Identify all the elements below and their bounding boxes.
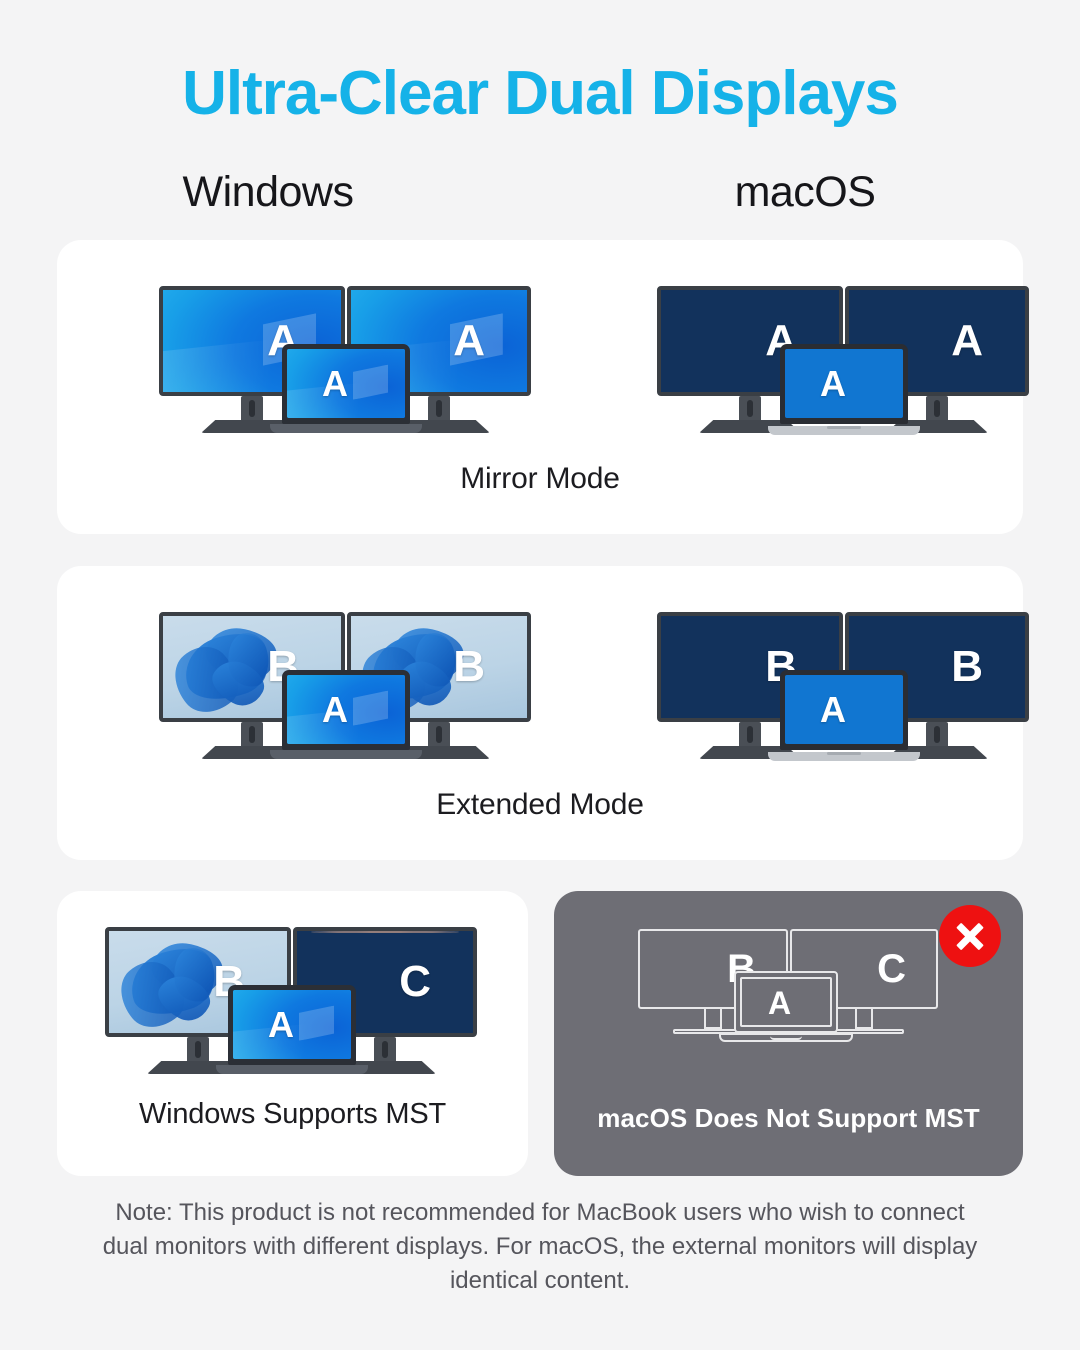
screen-letter: C xyxy=(399,960,431,1004)
x-mark-icon xyxy=(939,905,1001,967)
monitor-neck xyxy=(926,396,948,422)
windows-mst-scene: B C A xyxy=(57,891,528,1176)
laptop-deck xyxy=(216,1065,368,1074)
monitor-neck xyxy=(241,722,263,748)
card-windows-supports-mst: B C A Windows Supports MST xyxy=(57,891,528,1176)
windows-mst-group: B C A xyxy=(105,927,477,1097)
laptop-outline: A xyxy=(734,971,838,1042)
laptop-deck xyxy=(768,426,920,435)
monitor-neck xyxy=(241,396,263,422)
infographic-page: Ultra-Clear Dual Displays Windows macOS … xyxy=(0,0,1080,1350)
screen-letter: A xyxy=(951,319,983,363)
laptop-deck xyxy=(270,424,422,433)
monitor-neck xyxy=(187,1037,209,1063)
screen-letter: B xyxy=(951,645,983,689)
screen-letter: A xyxy=(268,1007,294,1043)
mode-label-macos-no-mst: macOS Does Not Support MST xyxy=(554,1103,1023,1134)
screen-letter: C xyxy=(877,949,906,989)
card-mirror-mode: A A A A xyxy=(57,240,1023,534)
screen-letter: B xyxy=(453,645,485,689)
screen-letter: A xyxy=(820,366,846,402)
mode-label-mirror: Mirror Mode xyxy=(57,462,1023,496)
card-macos-no-mst: B C A macOS Does Not Support MST xyxy=(554,891,1023,1176)
screen-letter: A xyxy=(820,692,846,728)
laptop-deck xyxy=(270,750,422,759)
monitor-neck-outline xyxy=(855,1009,873,1029)
monitor-neck xyxy=(428,396,450,422)
monitor-neck xyxy=(739,722,761,748)
laptop-deck xyxy=(768,752,920,761)
mode-label-extended: Extended Mode xyxy=(57,788,1023,822)
card-extended-mode: B xyxy=(57,566,1023,860)
os-header-macos: macOS xyxy=(540,168,1080,217)
macos-mst-outline-scene: B C A xyxy=(638,929,938,1057)
windows-extended-group: B xyxy=(159,612,531,782)
footer-note: Note: This product is not recommended fo… xyxy=(90,1196,990,1298)
monitor-neck xyxy=(428,722,450,748)
screen-letter: A xyxy=(322,692,348,728)
laptop-windows: A xyxy=(282,670,410,759)
laptop-windows: A xyxy=(282,344,410,433)
screen-letter: A xyxy=(322,366,348,402)
laptop-deck-outline xyxy=(719,1033,853,1042)
macos-mirror-group: A A A xyxy=(657,286,1029,456)
monitor-neck-outline xyxy=(704,1009,722,1029)
laptop-macbook: A xyxy=(780,670,908,761)
monitor-neck xyxy=(926,722,948,748)
mode-label-windows-mst: Windows Supports MST xyxy=(57,1098,528,1131)
os-header-row: Windows macOS xyxy=(0,168,1080,217)
screen-letter: A xyxy=(768,987,791,1019)
laptop-windows: A xyxy=(228,985,356,1074)
laptop-macbook: A xyxy=(780,344,908,435)
macos-extended-group: B B A xyxy=(657,612,1029,782)
page-title: Ultra-Clear Dual Displays xyxy=(0,58,1080,129)
monitor-neck xyxy=(739,396,761,422)
os-header-windows: Windows xyxy=(0,168,540,217)
monitor-neck xyxy=(374,1037,396,1063)
windows-mirror-group: A A A xyxy=(159,286,531,456)
screen-letter: A xyxy=(453,319,485,363)
